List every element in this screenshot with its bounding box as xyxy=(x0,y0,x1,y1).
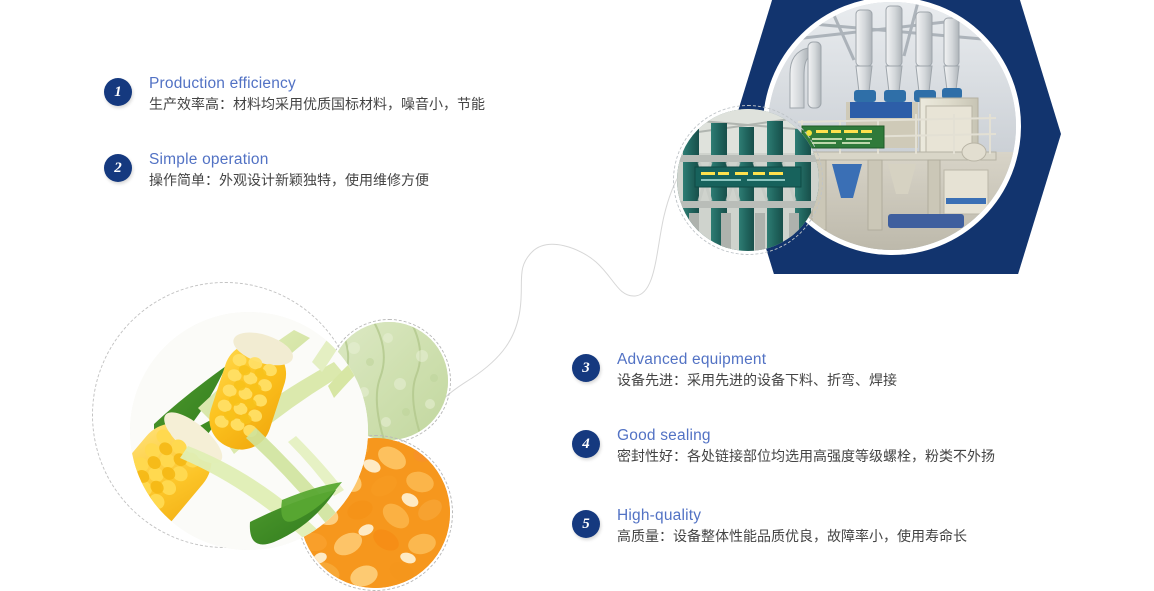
small-factory-photo xyxy=(677,109,819,251)
feature-title-en-1: Production efficiency xyxy=(149,74,485,93)
feature-badge-3: 3 xyxy=(572,354,600,382)
feature-item-4[interactable]: 4 Good sealing 密封性好：各处链接部位均选用高强度等级螺栓，粉类不… xyxy=(572,426,995,468)
feature-title-en-2: Simple operation xyxy=(149,150,429,169)
feature-text-5: High-quality 高质量：设备整体性能品质优良，故障率小，使用寿命长 xyxy=(617,506,967,548)
feature-title-cn-1: 生产效率高：材料均采用优质国标材料，噪音小，节能 xyxy=(149,95,485,116)
feature-title-en-4: Good sealing xyxy=(617,426,995,445)
feature-text-3: Advanced equipment 设备先进：采用先进的设备下料、折弯、焊接 xyxy=(617,350,897,392)
feature-badge-4: 4 xyxy=(572,430,600,458)
feature-text-4: Good sealing 密封性好：各处链接部位均选用高强度等级螺栓，粉类不外扬 xyxy=(617,426,995,468)
feature-badge-5: 5 xyxy=(572,510,600,538)
feature-title-cn-5: 高质量：设备整体性能品质优良，故障率小，使用寿命长 xyxy=(617,527,967,548)
feature-item-1[interactable]: 1 Production efficiency 生产效率高：材料均采用优质国标材… xyxy=(104,74,485,116)
feature-badge-1: 1 xyxy=(104,78,132,106)
feature-title-cn-2: 操作简单：外观设计新颖独特，使用维修方便 xyxy=(149,171,429,192)
feature-item-2[interactable]: 2 Simple operation 操作简单：外观设计新颖独特，使用维修方便 xyxy=(104,150,429,192)
feature-title-en-5: High-quality xyxy=(617,506,967,525)
feature-title-cn-4: 密封性好：各处链接部位均选用高强度等级螺栓，粉类不外扬 xyxy=(617,447,995,468)
feature-badge-2: 2 xyxy=(104,154,132,182)
feature-title-en-3: Advanced equipment xyxy=(617,350,897,369)
corn-photo xyxy=(130,312,368,550)
hexagon-media-group xyxy=(655,0,1075,294)
feature-title-cn-3: 设备先进：采用先进的设备下料、折弯、焊接 xyxy=(617,371,897,392)
feature-highlights-page: 1 Production efficiency 生产效率高：材料均采用优质国标材… xyxy=(0,0,1154,591)
corn-media-group xyxy=(92,282,492,591)
feature-text-2: Simple operation 操作简单：外观设计新颖独特，使用维修方便 xyxy=(149,150,429,192)
feature-item-5[interactable]: 5 High-quality 高质量：设备整体性能品质优良，故障率小，使用寿命长 xyxy=(572,506,967,548)
feature-text-1: Production efficiency 生产效率高：材料均采用优质国标材料，… xyxy=(149,74,485,116)
feature-item-3[interactable]: 3 Advanced equipment 设备先进：采用先进的设备下料、折弯、焊… xyxy=(572,350,897,392)
